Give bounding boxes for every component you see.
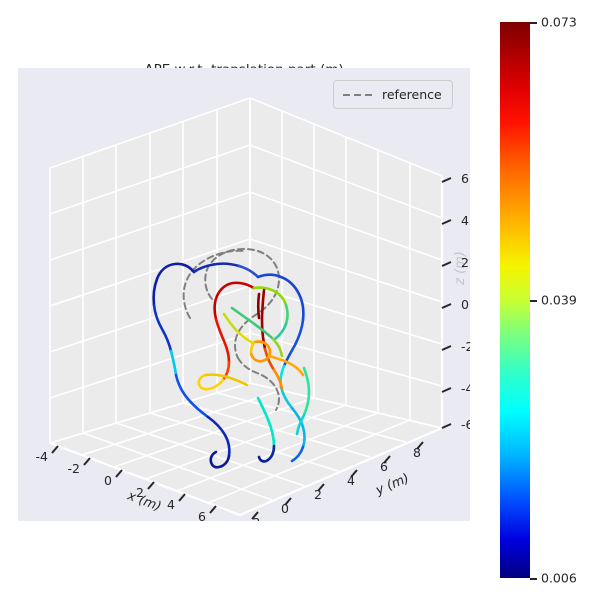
z-tick-labels: 6 4 2 0 -2 -4 -6 bbox=[461, 171, 470, 432]
colorbar-tick-max bbox=[530, 22, 537, 24]
legend-label-reference: reference bbox=[382, 87, 442, 102]
x-tick-2: 0 bbox=[104, 473, 112, 488]
y-tick-2: 2 bbox=[314, 487, 322, 502]
z-tick-5: -4 bbox=[461, 381, 470, 396]
trajectory-3d-axes[interactable]: -4 -2 0 2 4 6 -2 0 2 4 6 8 6 4 bbox=[18, 68, 470, 521]
colorbar-label-mid: 0.039 bbox=[541, 293, 577, 308]
y-tick-1: 0 bbox=[281, 501, 289, 516]
colorbar-gradient bbox=[500, 22, 530, 578]
legend[interactable]: reference bbox=[333, 80, 453, 109]
x-tick-5: 6 bbox=[198, 509, 206, 521]
colorbar-label-min: 0.006 bbox=[541, 571, 577, 586]
y-tick-3: 4 bbox=[347, 473, 355, 488]
legend-dashed-line-icon bbox=[342, 90, 374, 100]
z-tick-1: 4 bbox=[461, 213, 469, 228]
colorbar-label-max: 0.073 bbox=[541, 15, 577, 30]
matplotlib-figure: APE w.r.t. translation part (m) (with Si… bbox=[0, 0, 600, 600]
z-axis-label: z (m) bbox=[453, 251, 468, 286]
colorbar[interactable]: 0.073 0.039 0.006 bbox=[500, 22, 530, 578]
z-tick-3: 0 bbox=[461, 297, 469, 312]
x-tick-0: -4 bbox=[36, 449, 49, 464]
y-axis-label: y (m) bbox=[373, 471, 412, 499]
colorbar-tick-min bbox=[530, 578, 537, 580]
colorbar-tick-mid bbox=[530, 300, 537, 302]
y-tick-0: -2 bbox=[248, 515, 260, 521]
x-tick-4: 4 bbox=[167, 497, 175, 512]
z-tick-0: 6 bbox=[461, 171, 469, 186]
y-tick-4: 6 bbox=[380, 459, 388, 474]
x-tick-1: -2 bbox=[68, 461, 80, 476]
z-tick-4: -2 bbox=[461, 339, 470, 354]
y-tick-5: 8 bbox=[413, 445, 421, 460]
axes-canvas: -4 -2 0 2 4 6 -2 0 2 4 6 8 6 4 bbox=[18, 68, 470, 521]
z-tick-6: -6 bbox=[461, 417, 470, 432]
